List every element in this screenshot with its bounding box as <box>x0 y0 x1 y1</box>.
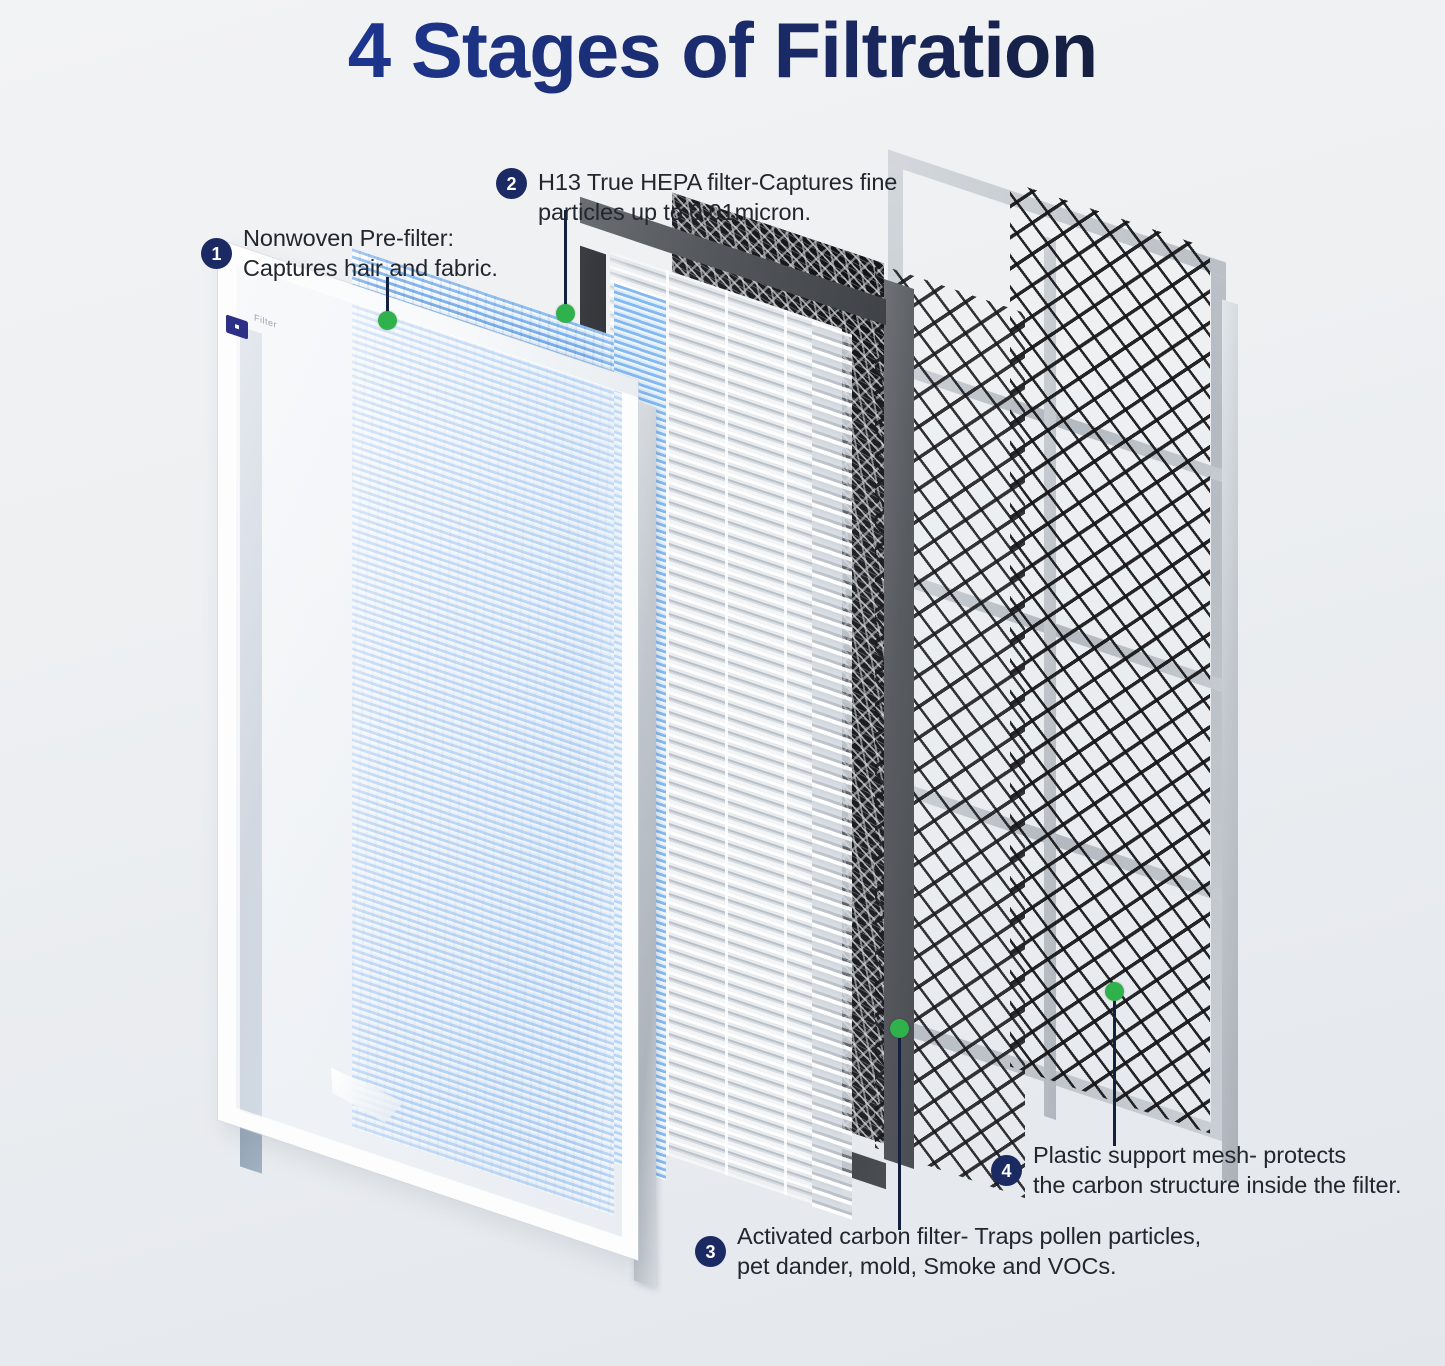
callout-3-activated-carbon-filter: 3 Activated carbon filter- Traps pollen … <box>695 1222 1201 1281</box>
prefilter-frame <box>218 240 638 1261</box>
callout-text-2: H13 True HEPA filter-Captures fine parti… <box>538 168 897 227</box>
leader-line-4 <box>1113 991 1116 1146</box>
infographic-canvas: 4 Stages of Filtration <box>0 0 1445 1366</box>
callout-4-plastic-support-mesh: 4 Plastic support mesh- protects the car… <box>991 1141 1401 1200</box>
callout-badge-4: 4 <box>991 1155 1022 1186</box>
callout-badge-1: 1 <box>201 238 232 269</box>
leader-line-3 <box>898 1030 901 1230</box>
callout-1-nonwoven-pre-filter: 1 Nonwoven Pre-filter: Captures hair and… <box>201 224 498 283</box>
callout-text-1: Nonwoven Pre-filter: Captures hair and f… <box>243 224 498 283</box>
callout-badge-2: 2 <box>496 168 527 199</box>
callout-text-4: Plastic support mesh- protects the carbo… <box>1033 1141 1401 1200</box>
callout-badge-3: 3 <box>695 1236 726 1267</box>
support-frame-side-edge <box>1222 299 1238 1184</box>
callout-2-h13-true-hepa-filter: 2 H13 True HEPA filter-Captures fine par… <box>496 168 897 227</box>
green-dot-marker-3 <box>890 1019 909 1038</box>
brand-logo-mark: ■ <box>235 322 240 332</box>
green-dot-marker-2 <box>556 304 575 323</box>
callout-text-3: Activated carbon filter- Traps pollen pa… <box>737 1222 1201 1281</box>
green-dot-marker-4 <box>1105 982 1124 1001</box>
green-dot-marker-1 <box>378 311 397 330</box>
